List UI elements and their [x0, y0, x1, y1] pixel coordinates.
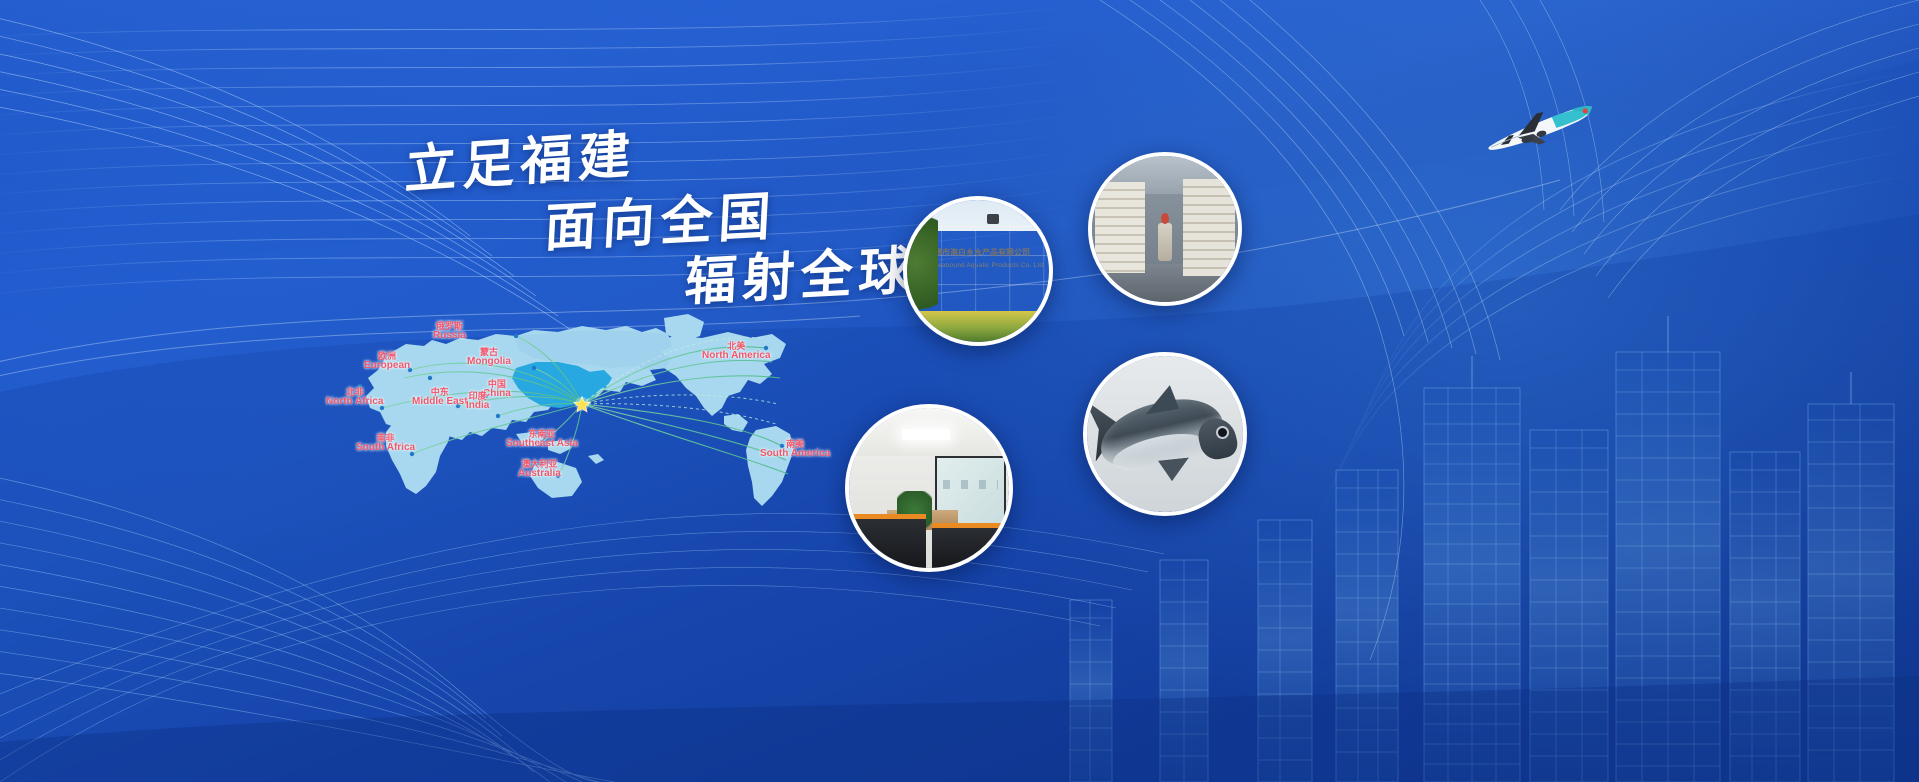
map-label-south-america: 南美South America: [760, 440, 830, 460]
map-label-middle-east: 中东Middle East: [412, 388, 468, 408]
office-photo: [845, 404, 1013, 572]
map-label-european: 欧洲European: [364, 352, 410, 372]
factory-sign-photo: 石狮市海白乡水产品有限公司 Shishi Seabound Aquatic Pr…: [903, 196, 1053, 346]
map-label-southeast-asia: 东南亚Southeast Asia: [506, 430, 578, 450]
world-map: 俄罗斯Russia 蒙古Mongolia 中国China 欧洲European …: [320, 300, 870, 550]
map-label-north-america: 北美North America: [702, 342, 771, 362]
map-label-australia: 澳大利亚Australia: [518, 460, 561, 480]
wall-lamp-icon: [987, 214, 999, 224]
map-label-mongolia: 蒙古Mongolia: [467, 348, 511, 368]
tuna-photo: [1083, 352, 1247, 516]
hero-banner: 立足福建 面向全国 辐射全球: [0, 0, 1919, 782]
flowing-line-mesh: [0, 0, 1919, 782]
cold-storage-photo: [1088, 152, 1242, 306]
map-label-india: 印度India: [466, 392, 489, 412]
map-label-russia: 俄罗斯Russia: [433, 322, 466, 342]
map-label-south-africa: 南非South Africa: [356, 434, 415, 454]
airplane-icon: [1480, 104, 1600, 152]
map-label-north-africa: 北非North Africa: [326, 388, 383, 408]
